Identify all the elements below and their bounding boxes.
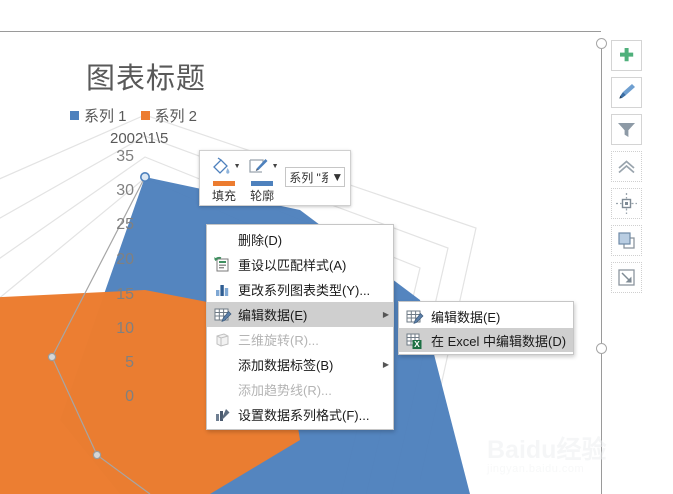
- series-selector-dropdown[interactable]: 系列 "系 ▼: [285, 167, 345, 187]
- chart-filters-button[interactable]: [611, 114, 642, 145]
- submenu-item-label: 编辑数据(E): [431, 307, 568, 326]
- resize-icon: [612, 263, 641, 292]
- legend-swatch-icon: [141, 111, 150, 120]
- chevron-down-icon[interactable]: ▼: [272, 163, 279, 170]
- no-icon: [212, 230, 233, 249]
- edit-data-icon: [404, 307, 425, 326]
- chevron-down-icon[interactable]: ▼: [234, 163, 241, 170]
- menu-item-reset-to-match-style[interactable]: 重设以匹配样式(A): [207, 252, 393, 277]
- legend-label: 系列 1: [84, 105, 127, 126]
- menu-item-label: 设置数据系列格式(F)...: [238, 405, 389, 424]
- submenu-item-label: 在 Excel 中编辑数据(D): [431, 331, 568, 350]
- submenu-item-edit-data[interactable]: 编辑数据(E): [399, 304, 573, 328]
- funnel-icon: [612, 115, 641, 144]
- chart-styles-button[interactable]: [611, 77, 642, 108]
- position-icon: [612, 189, 641, 218]
- chart-legend[interactable]: 系列 1 系列 2: [70, 105, 197, 126]
- menu-item-add-trendline: 添加趋势线(R)...: [207, 377, 393, 402]
- menu-item-change-series-chart-type[interactable]: 更改系列图表类型(Y)...: [207, 277, 393, 302]
- series-selector-value: 系列 "系: [289, 169, 328, 186]
- category-axis-label: 2002\1\5: [110, 130, 168, 147]
- resize-handle-middle-right[interactable]: [596, 343, 607, 354]
- rotate-3d-icon: [212, 330, 233, 349]
- chart-type-icon: [212, 280, 233, 299]
- submenu-arrow-icon: ▶: [383, 310, 389, 319]
- chart-title[interactable]: 图表标题: [86, 55, 206, 97]
- menu-item-label: 删除(D): [238, 230, 389, 249]
- fill-button[interactable]: ▼ 填充: [206, 155, 242, 204]
- axis-tick-20: 20: [100, 251, 134, 269]
- axis-tick-25: 25: [100, 216, 134, 234]
- chart-elements-button[interactable]: [611, 40, 642, 71]
- outline-button[interactable]: ▼ 轮廓: [244, 155, 280, 204]
- no-icon: [212, 380, 233, 399]
- axis-tick-10: 10: [100, 320, 134, 338]
- menu-item-label: 更改系列图表类型(Y)...: [238, 280, 389, 299]
- chevron-down-icon[interactable]: ▼: [331, 170, 342, 184]
- legend-item-series-2[interactable]: 系列 2: [141, 105, 198, 126]
- size-button[interactable]: [611, 262, 642, 293]
- menu-item-label: 添加数据标签(B): [238, 355, 379, 374]
- no-icon: [212, 355, 233, 374]
- axis-tick-30: 30: [100, 182, 134, 200]
- plus-icon: [612, 41, 641, 70]
- svg-text:X: X: [414, 339, 420, 349]
- menu-item-3d-rotation: 三维旋转(R)...: [207, 327, 393, 352]
- collapse-button[interactable]: [611, 151, 642, 182]
- edit-data-icon: [212, 305, 233, 324]
- mini-toolbar[interactable]: ▼ 填充 ▼ 轮廓 系列 "系 ▼: [199, 150, 351, 206]
- fill-button-label: 填充: [212, 187, 236, 204]
- edit-data-submenu[interactable]: 编辑数据(E) X 在 Excel 中编辑数据(D): [398, 301, 574, 355]
- chart-side-buttons[interactable]: [611, 40, 642, 293]
- legend-label: 系列 2: [155, 105, 198, 126]
- submenu-arrow-icon: ▶: [383, 360, 389, 369]
- menu-item-label: 添加趋势线(R)...: [238, 380, 389, 399]
- submenu-item-edit-data-in-excel[interactable]: X 在 Excel 中编辑数据(D): [399, 328, 573, 352]
- menu-item-delete[interactable]: 删除(D): [207, 227, 393, 252]
- menu-item-add-data-labels[interactable]: 添加数据标签(B) ▶: [207, 352, 393, 377]
- axis-tick-15: 15: [100, 286, 134, 304]
- excel-icon: X: [404, 331, 425, 350]
- fill-bucket-icon: [208, 155, 233, 180]
- menu-item-label: 三维旋转(R)...: [238, 330, 389, 349]
- outline-button-label: 轮廓: [250, 187, 274, 204]
- outline-color-bar: [251, 181, 273, 186]
- menu-item-format-data-series[interactable]: 设置数据系列格式(F)...: [207, 402, 393, 427]
- pencil-outline-icon: [246, 155, 271, 180]
- axis-tick-35: 35: [100, 148, 134, 166]
- fill-color-bar: [213, 181, 235, 186]
- axis-tick-0: 0: [100, 388, 134, 406]
- bring-forward-icon: [612, 226, 641, 255]
- menu-item-label: 重设以匹配样式(A): [238, 255, 389, 274]
- axis-tick-5: 5: [100, 354, 134, 372]
- selection-border-top: [0, 31, 601, 32]
- chevron-up-icon: [612, 152, 641, 181]
- menu-item-edit-data[interactable]: 编辑数据(E) ▶: [207, 302, 393, 327]
- menu-item-label: 编辑数据(E): [238, 305, 379, 324]
- reset-style-icon: [212, 255, 233, 274]
- arrange-button[interactable]: [611, 225, 642, 256]
- context-menu[interactable]: 删除(D) 重设以匹配样式(A) 更改系列图表类型(Y)...: [206, 224, 394, 430]
- brush-icon: [612, 78, 641, 107]
- legend-swatch-icon: [70, 111, 79, 120]
- legend-item-series-1[interactable]: 系列 1: [70, 105, 127, 126]
- layout-options-button[interactable]: [611, 188, 642, 219]
- format-series-icon: [212, 405, 233, 424]
- resize-handle-top-right[interactable]: [596, 38, 607, 49]
- selection-border-right: [601, 44, 602, 494]
